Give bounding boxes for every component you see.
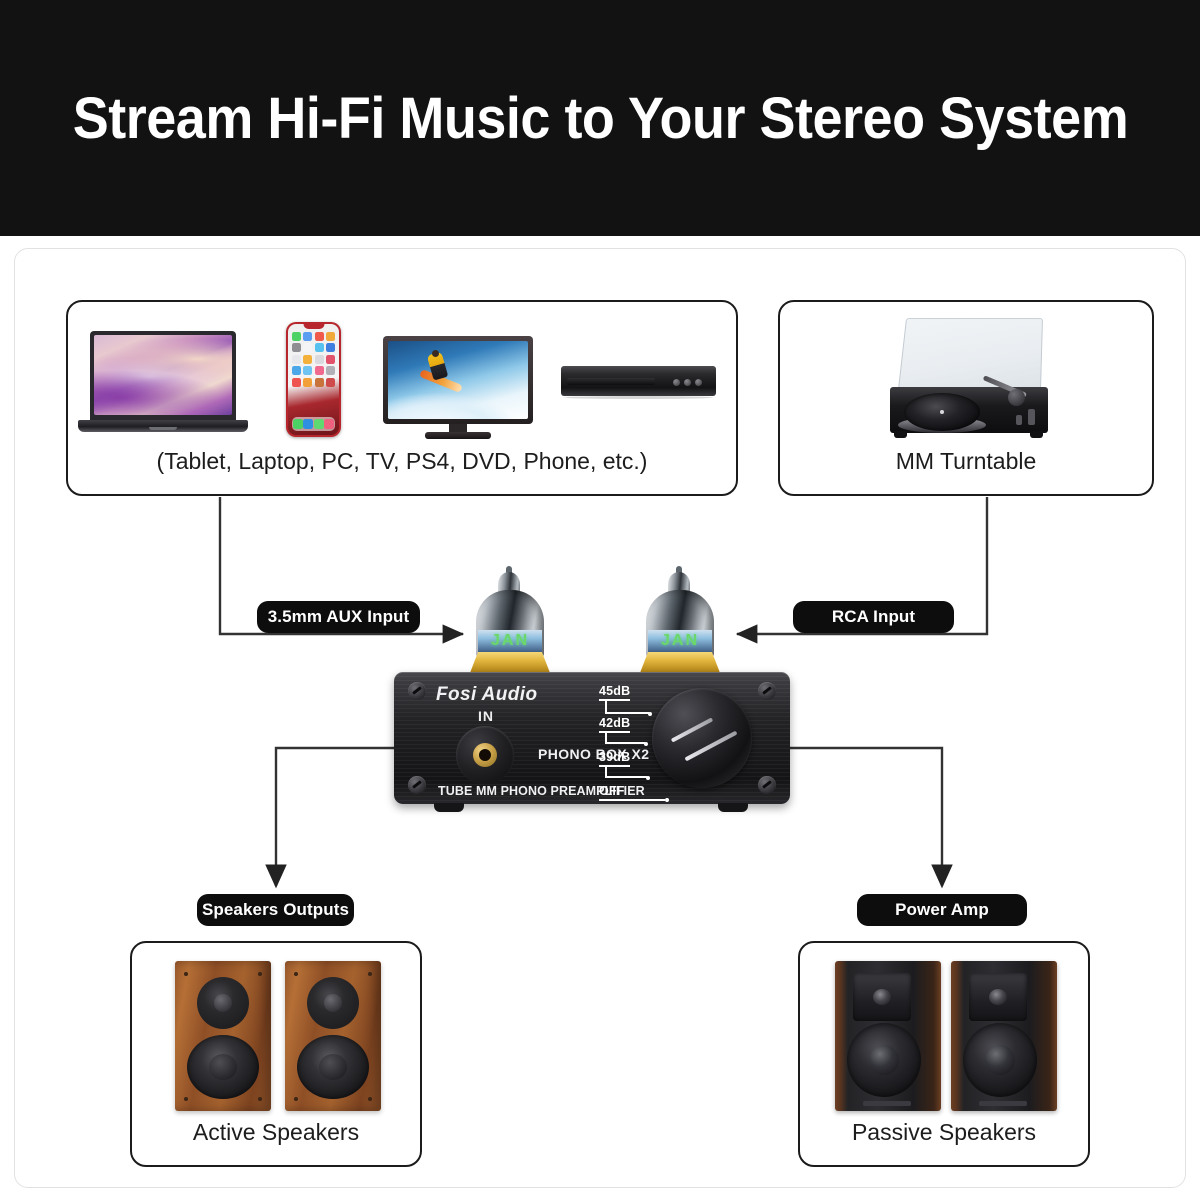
aux-input-jack[interactable] <box>456 726 514 784</box>
turntable-device-icon <box>884 317 1054 445</box>
faceplate-screw-top-right <box>758 682 776 700</box>
faceplate-screw-bottom-right <box>758 776 776 794</box>
faceplate-screw-bottom-left <box>408 776 426 794</box>
label-power-amp: Power Amp <box>857 894 1027 926</box>
label-aux-input: 3.5mm AUX Input <box>257 601 420 633</box>
label-rca-input: RCA Input <box>793 601 954 633</box>
phono-preamplifier-device: JAN JAN Fosi Audio IN P <box>394 572 790 827</box>
black-speaker-pair <box>828 961 1064 1111</box>
active-speakers-caption: Active Speakers <box>132 1119 420 1146</box>
label-speakers-outputs: Speakers Outputs <box>197 894 354 926</box>
black-speaker <box>951 961 1057 1111</box>
header-banner: Stream Hi-Fi Music to Your Stereo System <box>0 0 1200 236</box>
laptop-device-icon <box>78 331 248 439</box>
gain-mark-39db: 39dB <box>599 748 630 767</box>
wood-speaker <box>285 961 381 1111</box>
television-device-icon <box>383 336 533 441</box>
dvd-player-device-icon <box>561 366 716 402</box>
black-speaker <box>835 961 941 1111</box>
brand-logo: Fosi Audio <box>436 684 537 706</box>
faceplate-screw-top-left <box>408 682 426 700</box>
turntable-caption: MM Turntable <box>780 448 1152 475</box>
tube-marking-left: JAN <box>491 632 529 650</box>
gain-selector-knob[interactable] <box>652 688 752 788</box>
wood-speaker <box>175 961 271 1111</box>
model-name: PHONO BOX X2 <box>538 746 649 762</box>
gain-mark-off: OFF <box>599 782 625 801</box>
amplifier-foot-left <box>434 803 464 812</box>
page-title: Stream Hi-Fi Music to Your Stereo System <box>72 85 1127 152</box>
active-speakers-group-box: Active Speakers <box>130 941 422 1167</box>
gain-mark-45db: 45dB <box>599 682 630 701</box>
amplifier-faceplate: Fosi Audio IN PHONO BOX X2 TUBE MM PHONO… <box>394 672 790 804</box>
amplifier-foot-right <box>718 803 748 812</box>
tube-marking-right: JAN <box>661 632 699 650</box>
vacuum-tube-right: JAN <box>638 572 722 676</box>
vacuum-tube-left: JAN <box>468 572 552 676</box>
infographic-page: Stream Hi-Fi Music to Your Stereo System… <box>0 0 1200 1200</box>
input-label: IN <box>478 708 494 724</box>
sources-caption: (Tablet, Laptop, PC, TV, PS4, DVD, Phone… <box>68 448 736 475</box>
smartphone-device-icon <box>286 322 341 437</box>
gain-mark-42db: 42dB <box>599 714 630 733</box>
passive-speakers-group-box: Passive Speakers <box>798 941 1090 1167</box>
passive-speakers-caption: Passive Speakers <box>800 1119 1088 1146</box>
wood-speaker-pair <box>166 961 390 1111</box>
